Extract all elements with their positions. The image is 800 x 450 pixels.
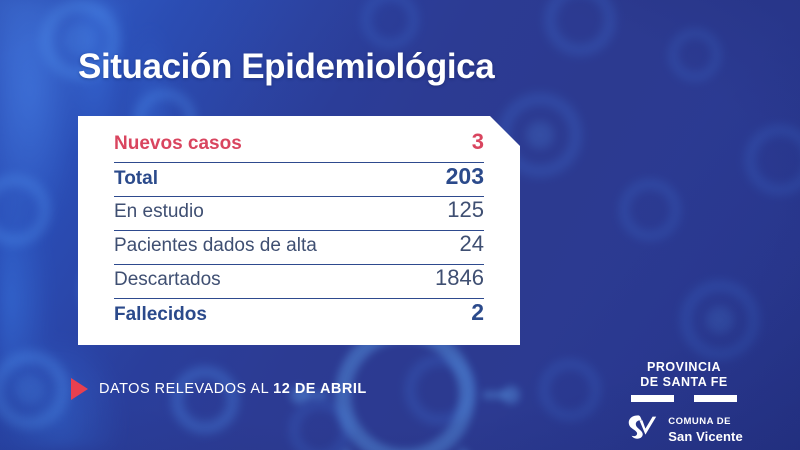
- row-label: Nuevos casos: [114, 133, 242, 155]
- stats-card: Nuevos casos 3 Total 203 En estudio 125 …: [78, 116, 520, 345]
- santa-fe-flag-bars: [604, 395, 764, 402]
- row-label: Fallecidos: [114, 304, 207, 326]
- table-row: Pacientes dados de alta 24: [114, 231, 484, 265]
- table-row: Descartados 1846: [114, 265, 484, 299]
- row-value: 125: [447, 197, 484, 223]
- row-label: Descartados: [114, 269, 221, 291]
- table-row: Fallecidos 2: [114, 299, 484, 332]
- data-date-prefix: DATOS RELEVADOS AL: [99, 381, 273, 397]
- row-value: 1846: [435, 265, 484, 291]
- row-value: 2: [471, 299, 484, 326]
- table-row: En estudio 125: [114, 197, 484, 231]
- comuna-line-2: San Vicente: [668, 429, 743, 444]
- comuna-logo: COMUNA DE San Vicente: [604, 411, 764, 447]
- table-row: Nuevos casos 3: [114, 129, 484, 163]
- data-date-value: 12 DE ABRIL: [273, 381, 367, 397]
- province-logo: PROVINCIA DE SANTA FE: [604, 360, 764, 390]
- slide-canvas: Situación Epidemiológica Nuevos casos 3 …: [0, 0, 800, 450]
- province-line-1: PROVINCIA: [604, 360, 764, 375]
- sv-monogram-icon: [625, 413, 661, 443]
- data-date-note: DATOS RELEVADOS AL 12 DE ABRIL: [71, 378, 367, 400]
- play-triangle-icon: [71, 378, 88, 400]
- page-title: Situación Epidemiológica: [78, 47, 494, 87]
- row-value: 3: [472, 129, 484, 155]
- flag-bar-left: [631, 395, 674, 402]
- data-date-text: DATOS RELEVADOS AL 12 DE ABRIL: [99, 381, 367, 397]
- comuna-wordmark: COMUNA DE San Vicente: [668, 411, 743, 447]
- row-value: 203: [446, 163, 484, 190]
- stats-table: Nuevos casos 3 Total 203 En estudio 125 …: [114, 129, 484, 332]
- row-label: Total: [114, 168, 158, 190]
- row-label: Pacientes dados de alta: [114, 235, 317, 257]
- row-value: 24: [460, 231, 484, 257]
- row-label: En estudio: [114, 201, 204, 223]
- comuna-line-1: COMUNA DE: [668, 416, 731, 427]
- province-line-2: DE SANTA FE: [604, 375, 764, 390]
- table-row: Total 203: [114, 163, 484, 197]
- flag-bar-right: [694, 395, 737, 402]
- logo-block: PROVINCIA DE SANTA FE COMUNA DE San Vice…: [604, 360, 764, 446]
